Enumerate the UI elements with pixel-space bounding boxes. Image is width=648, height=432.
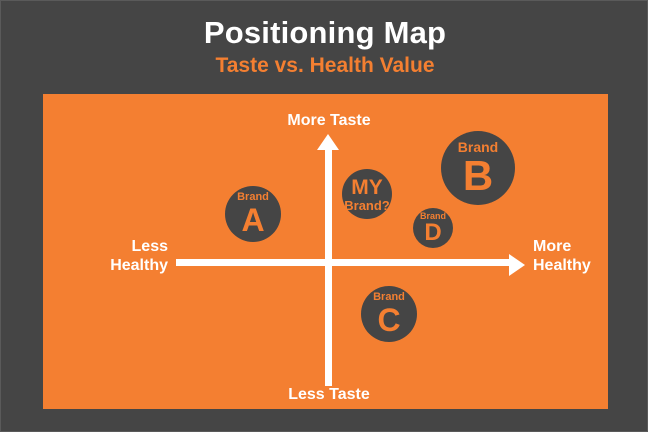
plot-panel: More Taste Less Taste Less Healthy More … xyxy=(43,94,608,409)
bubble-main-label: Brand? xyxy=(344,199,390,212)
data-point-brand-c[interactable]: Brand C xyxy=(361,286,417,342)
axis-label-less-taste: Less Taste xyxy=(229,385,429,404)
positioning-map-canvas: Positioning Map Taste vs. Health Value M… xyxy=(0,0,648,432)
x-axis-line xyxy=(176,259,512,266)
bubble-main-label: B xyxy=(463,155,493,197)
page-subtitle: Taste vs. Health Value xyxy=(1,53,648,79)
bubble-main-label: A xyxy=(241,204,264,236)
data-point-brand-a[interactable]: Brand A xyxy=(225,186,281,242)
y-axis-line xyxy=(325,148,332,386)
data-point-brand-d[interactable]: Brand D xyxy=(413,208,453,248)
data-point-my-brand[interactable]: MY Brand? xyxy=(342,169,392,219)
data-point-brand-b[interactable]: Brand B xyxy=(441,131,515,205)
axis-label-less-healthy: Less Healthy xyxy=(43,237,168,275)
bubble-top-label: MY xyxy=(351,177,383,198)
page-title: Positioning Map xyxy=(1,15,648,51)
arrow-right-icon xyxy=(509,254,525,276)
bubble-main-label: C xyxy=(377,304,400,336)
axis-label-more-healthy: More Healthy xyxy=(533,237,648,275)
axis-label-more-taste: More Taste xyxy=(229,111,429,130)
arrow-up-icon xyxy=(317,134,339,150)
title-block: Positioning Map Taste vs. Health Value xyxy=(1,15,648,79)
bubble-main-label: D xyxy=(424,221,441,245)
